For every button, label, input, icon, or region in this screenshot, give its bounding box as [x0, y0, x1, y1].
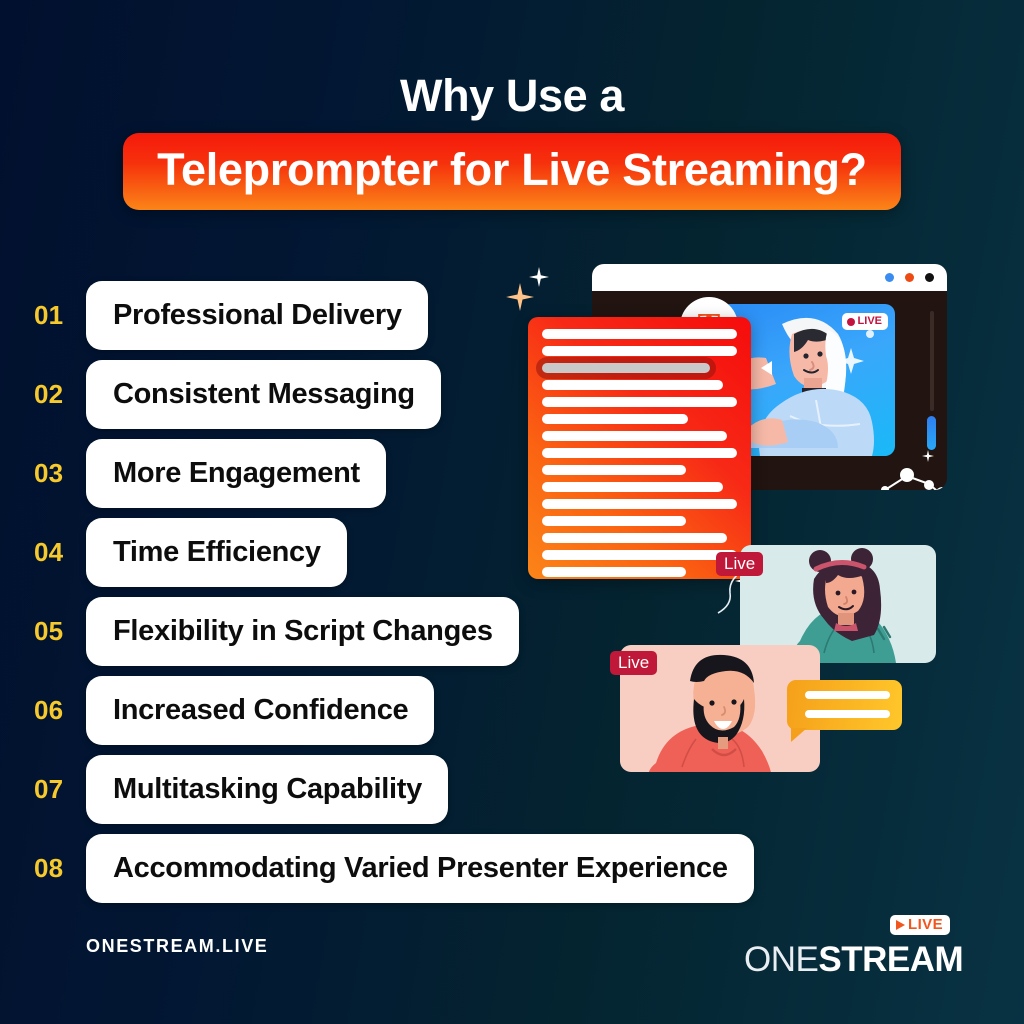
list-item-label: Increased Confidence	[113, 694, 408, 727]
teleprompter-script-panel	[528, 317, 751, 579]
list-item-number: 04	[34, 537, 86, 568]
title-line-1: Why Use a	[0, 72, 1024, 119]
participant-live-badge-bottom: Live	[610, 651, 657, 675]
page-title: Why Use a Teleprompter for Live Streamin…	[0, 72, 1024, 210]
script-line	[542, 414, 688, 424]
list-item-number: 07	[34, 774, 86, 805]
teleprompter-illustration: LIVE T	[520, 255, 990, 795]
script-line	[542, 465, 686, 475]
chat-bubble	[787, 680, 902, 730]
chat-bubble-line	[805, 710, 890, 718]
script-line	[542, 567, 686, 577]
script-line	[542, 550, 737, 560]
title-banner: Teleprompter for Live Streaming?	[123, 133, 901, 210]
list-item-pill[interactable]: More Engagement	[86, 439, 386, 508]
list-item-number: 01	[34, 300, 86, 331]
script-line	[542, 380, 723, 390]
participant-live-badge-top: Live	[716, 552, 763, 576]
script-line-highlighted	[542, 363, 710, 373]
script-line	[542, 346, 737, 356]
list-item-pill[interactable]: Accommodating Varied Presenter Experienc…	[86, 834, 754, 903]
play-triangle-icon	[896, 920, 905, 930]
list-item-label: Consistent Messaging	[113, 378, 415, 411]
list-item-pill[interactable]: Flexibility in Script Changes	[86, 597, 519, 666]
list-item-number: 06	[34, 695, 86, 726]
video-live-badge: LIVE	[842, 313, 888, 330]
script-line	[542, 533, 727, 543]
window-titlebar	[592, 264, 947, 291]
window-dot-blue-icon	[885, 273, 894, 282]
script-line	[542, 499, 737, 509]
list-item-number: 02	[34, 379, 86, 410]
list-item-pill[interactable]: Consistent Messaging	[86, 360, 441, 429]
script-line	[542, 431, 727, 441]
script-line	[542, 482, 723, 492]
logo-stream-text: STREAM	[818, 940, 963, 979]
sparkle-icon	[529, 267, 549, 287]
window-dot-black-icon	[925, 273, 934, 282]
title-line-2: Teleprompter for Live Streaming?	[157, 147, 867, 192]
script-line	[542, 397, 737, 407]
logo-one-text: ONE	[744, 940, 818, 979]
scrollbar-track[interactable]	[930, 311, 934, 411]
list-item-label: Professional Delivery	[113, 299, 402, 332]
live-dot-icon	[847, 318, 855, 326]
list-item-pill[interactable]: Time Efficiency	[86, 518, 347, 587]
logo-wordmark: ONESTREAM	[744, 942, 963, 977]
network-nodes-icon	[877, 464, 947, 490]
list-item-number: 05	[34, 616, 86, 647]
onestream-logo[interactable]: LIVE ONESTREAM	[744, 915, 954, 977]
footer-website-url[interactable]: ONESTREAM.LIVE	[86, 936, 268, 957]
script-line	[542, 329, 737, 339]
script-line	[542, 516, 686, 526]
list-item-label: Accommodating Varied Presenter Experienc…	[113, 852, 728, 885]
list-item[interactable]: 08 Accommodating Varied Presenter Experi…	[34, 829, 914, 908]
list-item-pill[interactable]: Increased Confidence	[86, 676, 434, 745]
window-dot-orange-icon	[905, 273, 914, 282]
video-live-badge-label: LIVE	[858, 316, 882, 327]
infographic-canvas: Why Use a Teleprompter for Live Streamin…	[0, 0, 1024, 1024]
logo-live-badge: LIVE	[890, 915, 950, 935]
list-item-label: Flexibility in Script Changes	[113, 615, 493, 648]
script-line	[542, 448, 737, 458]
sparkle-icon	[922, 450, 934, 462]
list-item-pill[interactable]: Multitasking Capability	[86, 755, 448, 824]
list-item-pill[interactable]: Professional Delivery	[86, 281, 428, 350]
list-item-label: More Engagement	[113, 457, 360, 490]
list-item-label: Multitasking Capability	[113, 773, 422, 806]
list-item-number: 03	[34, 458, 86, 489]
chat-bubble-line	[805, 691, 890, 699]
logo-live-label: LIVE	[908, 917, 943, 932]
list-item-number: 08	[34, 853, 86, 884]
scrollbar-thumb[interactable]	[927, 416, 936, 450]
list-item-label: Time Efficiency	[113, 536, 321, 569]
